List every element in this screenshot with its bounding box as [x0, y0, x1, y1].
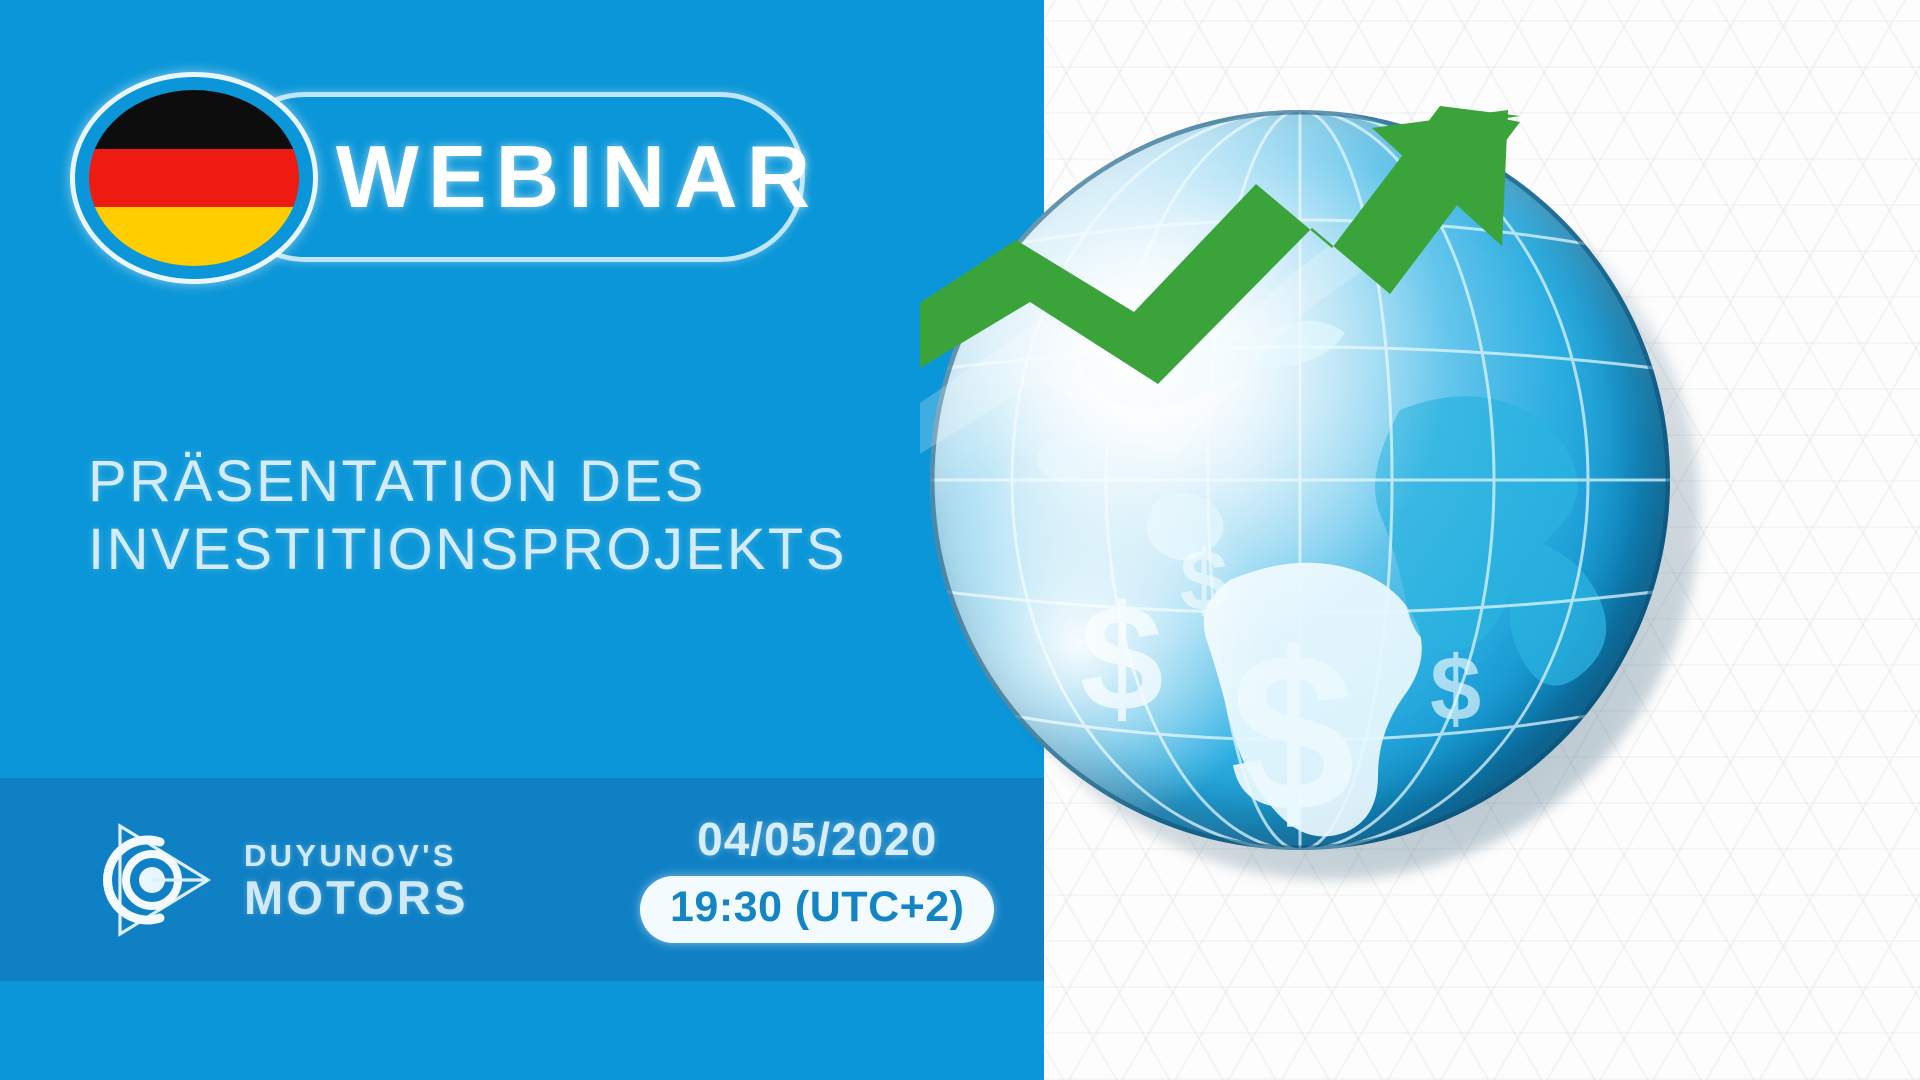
event-date: 04/05/2020: [697, 812, 937, 866]
event-datetime: 04/05/2020 19:30 (UTC+2): [640, 812, 994, 943]
globe-artwork: $ $ $ $: [920, 80, 1720, 880]
german-flag-icon: [70, 72, 318, 284]
flag-circle: [89, 90, 299, 266]
brand-logo: DUYUNOV'S MOTORS: [90, 814, 469, 946]
brand-line-2: MOTORS: [244, 874, 469, 921]
growth-arrow-up-icon: [920, 80, 1720, 880]
banner-subtitle: PRÄSENTATION DES INVESTITIONSPROJEKTS: [88, 448, 968, 584]
flag-stripe-gold: [89, 207, 299, 266]
footer-row: DUYUNOV'S MOTORS 04/05/2020 19:30 (UTC+2…: [0, 778, 1044, 981]
banner-header: WEBINAR: [70, 72, 810, 282]
duyunov-motors-logo-icon: [90, 814, 222, 946]
brand-wordmark: DUYUNOV'S MOTORS: [244, 840, 469, 921]
event-time-pill: 19:30 (UTC+2): [640, 876, 994, 943]
subtitle-line-2: INVESTITIONSPROJEKTS: [88, 516, 968, 584]
flag-stripe-black: [89, 90, 299, 149]
webinar-banner: $ $ $ $: [0, 0, 1920, 1080]
brand-line-1: DUYUNOV'S: [244, 840, 469, 871]
flag-stripe-red: [89, 149, 299, 208]
subtitle-line-1: PRÄSENTATION DES: [88, 448, 968, 516]
